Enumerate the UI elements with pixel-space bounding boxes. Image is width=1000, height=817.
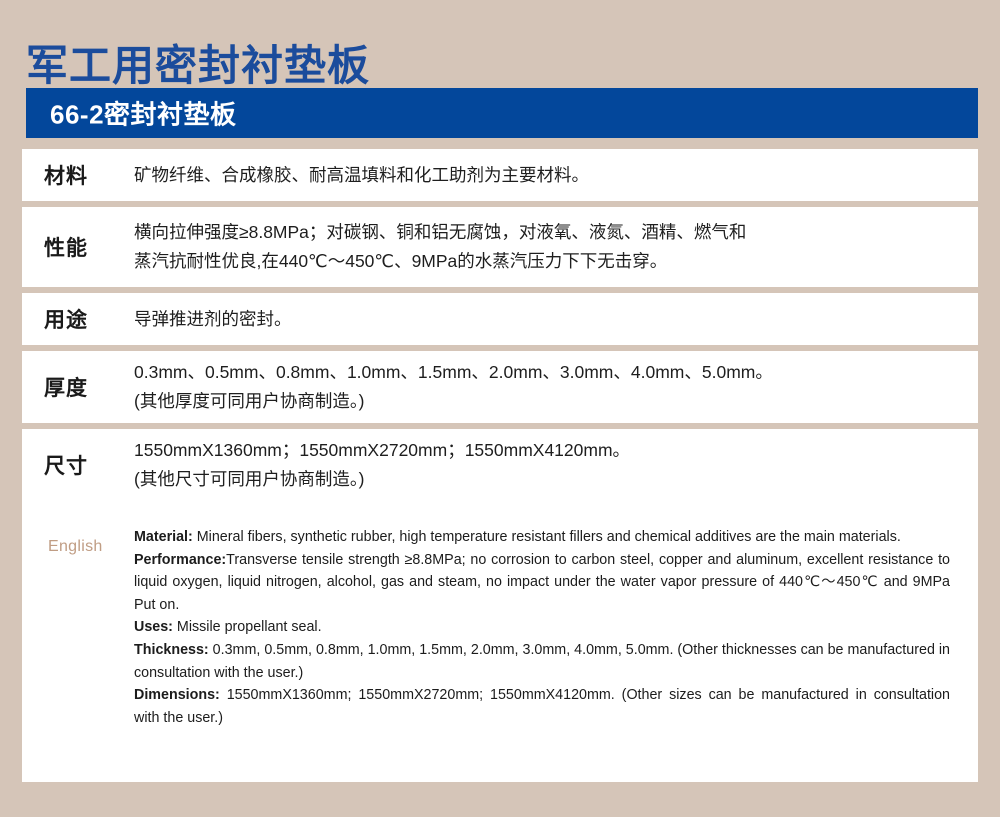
english-lead-material: Material: [134,529,193,545]
english-text-thickness: 0.3mm, 0.5mm, 0.8mm, 1.0mm, 1.5mm, 2.0mm… [134,642,950,681]
english-label: English [22,500,134,782]
spec-line: 蒸汽抗耐性优良,在440℃～450℃、9MPa的水蒸汽压力下下无击穿。 [134,247,962,276]
spec-line: 矿物纤维、合成橡胶、耐高温填料和化工助剂为主要材料。 [134,161,962,190]
english-entry-dimensions: Dimensions: 1550mmX1360mm; 1550mmX2720mm… [134,684,950,729]
table-row: 尺寸 1550mmX1360mm；1550mmX2720mm；1550mmX41… [22,429,978,501]
english-body: Material: Mineral fibers, synthetic rubb… [134,500,978,782]
english-text-uses: Missile propellant seal. [173,619,322,635]
spec-line: 1550mmX1360mm；1550mmX2720mm；1550mmX4120m… [134,436,962,465]
section-header-bar: 66-2密封衬垫板 [26,88,978,138]
english-lead-performance: Performance: [134,552,226,568]
spec-line: 0.3mm、0.5mm、0.8mm、1.0mm、1.5mm、2.0mm、3.0m… [134,358,962,387]
spec-line: (其他厚度可同用户协商制造。) [134,387,962,416]
english-lead-dimensions: Dimensions: [134,687,220,703]
spec-line: 横向拉伸强度≥8.8MPa；对碳钢、铜和铝无腐蚀，对液氧、液氮、酒精、燃气和 [134,218,962,247]
table-row: 性能 横向拉伸强度≥8.8MPa；对碳钢、铜和铝无腐蚀，对液氧、液氮、酒精、燃气… [22,207,978,287]
section-header-label: 66-2密封衬垫板 [50,95,237,132]
spec-table: 材料 矿物纤维、合成橡胶、耐高温填料和化工助剂为主要材料。 性能 横向拉伸强度≥… [22,149,978,507]
spec-line: (其他尺寸可同用户协商制造。) [134,465,962,494]
english-entry-performance: Performance:Transverse tensile strength … [134,549,950,617]
spec-label-material: 材料 [22,149,134,201]
english-entry-thickness: Thickness: 0.3mm, 0.5mm, 0.8mm, 1.0mm, 1… [134,639,950,684]
spec-line: 导弹推进剂的密封。 [134,305,962,334]
english-section: English Material: Mineral fibers, synthe… [22,500,978,782]
english-lead-uses: Uses: [134,619,173,635]
spec-label-thickness: 厚度 [22,351,134,423]
english-text-dimensions: 1550mmX1360mm; 1550mmX2720mm; 1550mmX412… [134,687,950,726]
table-row: 厚度 0.3mm、0.5mm、0.8mm、1.0mm、1.5mm、2.0mm、3… [22,351,978,423]
table-row: 用途 导弹推进剂的密封。 [22,293,978,345]
spec-label-performance: 性能 [22,207,134,287]
spec-value-performance: 横向拉伸强度≥8.8MPa；对碳钢、铜和铝无腐蚀，对液氧、液氮、酒精、燃气和 蒸… [134,207,978,287]
english-entry-uses: Uses: Missile propellant seal. [134,616,950,639]
spec-value-material: 矿物纤维、合成橡胶、耐高温填料和化工助剂为主要材料。 [134,149,978,201]
spec-value-uses: 导弹推进剂的密封。 [134,293,978,345]
spec-label-dimensions: 尺寸 [22,429,134,501]
spec-value-thickness: 0.3mm、0.5mm、0.8mm、1.0mm、1.5mm、2.0mm、3.0m… [134,351,978,423]
spec-label-uses: 用途 [22,293,134,345]
spec-value-dimensions: 1550mmX1360mm；1550mmX2720mm；1550mmX4120m… [134,429,978,501]
english-entry-material: Material: Mineral fibers, synthetic rubb… [134,526,950,549]
table-row: 材料 矿物纤维、合成橡胶、耐高温填料和化工助剂为主要材料。 [22,149,978,201]
english-lead-thickness: Thickness: [134,642,209,658]
english-text-performance: Transverse tensile strength ≥8.8MPa; no … [134,552,950,613]
english-text-material: Mineral fibers, synthetic rubber, high t… [193,529,901,545]
